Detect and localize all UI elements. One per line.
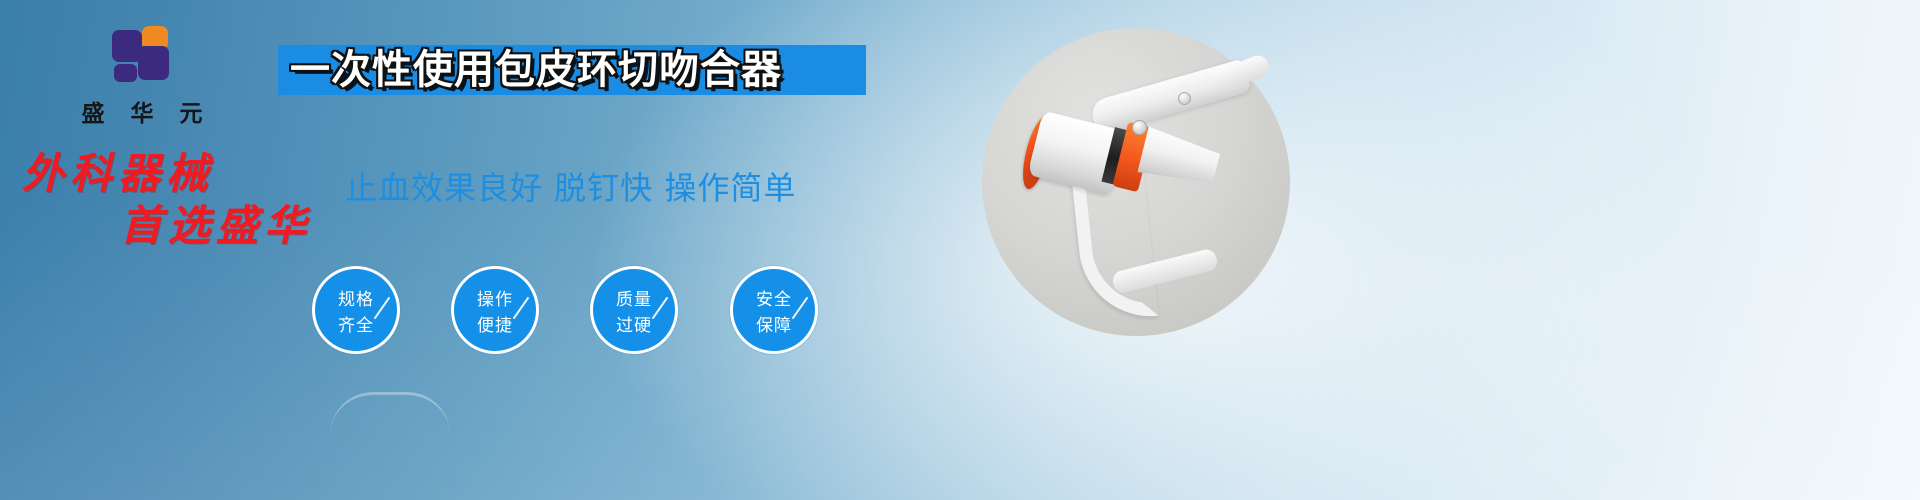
- stapler-pivot-pin: [1132, 120, 1147, 135]
- promo-banner: 盛 华 元 一次性使用包皮环切吻合器 外科器械 首选盛华 止血效果良好 脱钉快 …: [0, 0, 1920, 500]
- feature-label-line-1: 安全: [733, 287, 815, 313]
- company-name-text: 盛 华 元: [62, 94, 222, 128]
- feature-label-line-2: 保障: [733, 313, 815, 339]
- product-subtitle: 止血效果良好 脱钉快 操作简单: [345, 166, 796, 210]
- product-photo: [982, 28, 1290, 336]
- feature-badge-specifications[interactable]: 规格 齐全: [312, 266, 400, 354]
- feature-badge-label: 规格 齐全: [315, 287, 397, 339]
- feature-badge-safety[interactable]: 安全 保障: [730, 266, 818, 354]
- feature-badge-group: 规格 齐全 操作 便捷 质量 过硬 安全 保障: [312, 266, 872, 358]
- slogan-line-2: 首选盛华: [120, 200, 352, 252]
- feature-badge-label: 安全 保障: [733, 287, 815, 339]
- feature-label-line-2: 齐全: [315, 313, 397, 339]
- feature-label-line-2: 过硬: [593, 313, 675, 339]
- logo-square-purple-right: [138, 46, 169, 80]
- feature-label-line-1: 质量: [593, 287, 675, 313]
- calligraphy-slogan: 外科器械 首选盛华: [22, 148, 352, 260]
- decorative-arc: [330, 392, 450, 435]
- stapler-pivot-pin-secondary: [1178, 92, 1191, 105]
- feature-badge-operation[interactable]: 操作 便捷: [451, 266, 539, 354]
- slogan-line-1: 外科器械: [22, 148, 352, 200]
- logo-square-purple-bottom-left: [114, 64, 137, 82]
- feature-label-line-1: 操作: [454, 287, 536, 313]
- company-logo[interactable]: 盛 华 元: [62, 26, 222, 122]
- product-title: 一次性使用包皮环切吻合器: [290, 42, 890, 98]
- feature-label-line-2: 便捷: [454, 313, 536, 339]
- feature-badge-quality[interactable]: 质量 过硬: [590, 266, 678, 354]
- feature-label-line-1: 规格: [315, 287, 397, 313]
- feature-badge-label: 操作 便捷: [454, 287, 536, 339]
- logo-mark-icon: [112, 26, 172, 86]
- feature-badge-label: 质量 过硬: [593, 287, 675, 339]
